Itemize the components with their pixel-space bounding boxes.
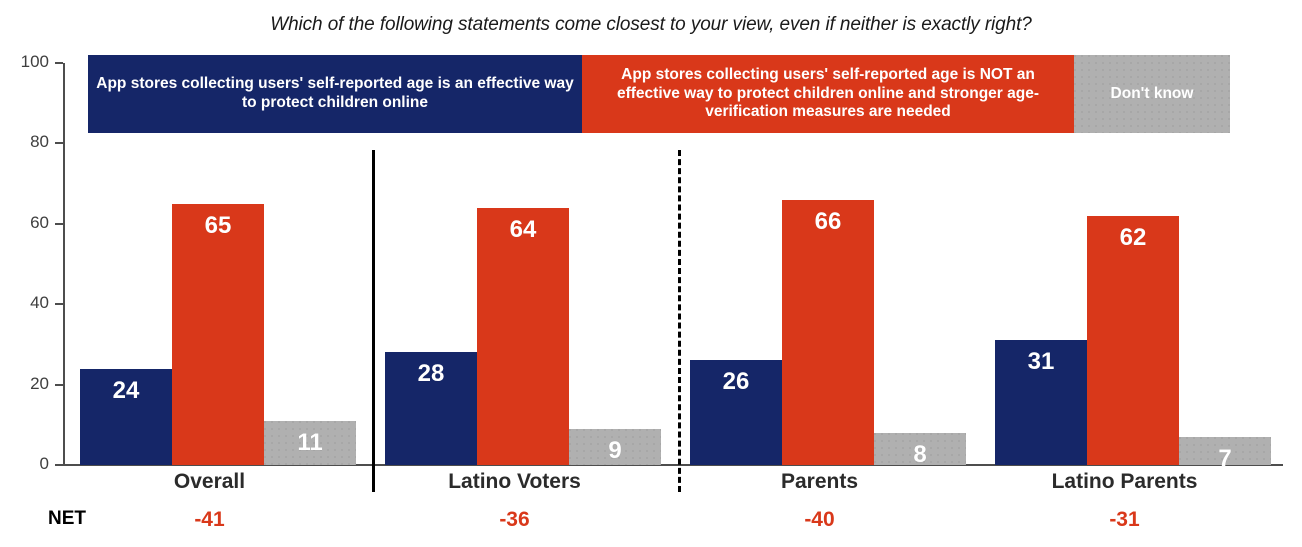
bar-not-effective: 62	[1087, 216, 1179, 465]
category-label-parents: Parents	[700, 470, 940, 494]
y-axis-tick-label: 100	[5, 52, 49, 72]
bar-value-label: 24	[80, 377, 172, 405]
bar-value-label: 31	[995, 348, 1087, 376]
category-label-latino-parents: Latino Parents	[1005, 470, 1245, 494]
category-label-overall: Overall	[90, 470, 330, 494]
y-axis-tick-label: 20	[5, 374, 49, 394]
y-axis-tick	[55, 464, 63, 466]
bar-effective: 26	[690, 360, 782, 465]
category-label-latino-voters: Latino Voters	[395, 470, 635, 494]
y-axis-tick	[55, 223, 63, 225]
bar-value-label: 26	[690, 368, 782, 396]
bar-not-effective: 64	[477, 208, 569, 465]
y-axis-tick	[55, 142, 63, 144]
bar-value-label: 7	[1179, 445, 1271, 473]
net-value: -40	[700, 508, 940, 532]
y-axis-tick	[55, 62, 63, 64]
bar-not-effective: 65	[172, 204, 264, 465]
y-axis-tick-label: 40	[5, 293, 49, 313]
bar-chart: Which of the following statements come c…	[0, 0, 1302, 547]
bar-value-label: 64	[477, 216, 569, 244]
bar-value-label: 11	[264, 429, 356, 457]
y-axis-tick	[55, 384, 63, 386]
bar-effective: 28	[385, 352, 477, 465]
plot-area: 246511286492666831627	[65, 63, 1283, 465]
bar-dont-know: 7	[1179, 437, 1271, 465]
bar-value-label: 8	[874, 441, 966, 469]
bar-dont-know: 9	[569, 429, 661, 465]
bar-dont-know: 8	[874, 433, 966, 465]
bar-effective: 31	[995, 340, 1087, 465]
bar-value-label: 62	[1087, 224, 1179, 252]
bar-value-label: 9	[569, 437, 661, 465]
y-axis-tick-label: 80	[5, 132, 49, 152]
bar-value-label: 66	[782, 208, 874, 236]
y-axis-tick-label: 0	[5, 454, 49, 474]
bar-value-label: 65	[172, 212, 264, 240]
chart-title: Which of the following statements come c…	[0, 14, 1302, 36]
net-value: -41	[90, 508, 330, 532]
net-value: -36	[395, 508, 635, 532]
bar-not-effective: 66	[782, 200, 874, 465]
y-axis-tick-label: 60	[5, 213, 49, 233]
bar-dont-know: 11	[264, 421, 356, 465]
net-row-label: NET	[48, 508, 86, 530]
bar-value-label: 28	[385, 360, 477, 388]
y-axis-tick	[55, 303, 63, 305]
bar-effective: 24	[80, 369, 172, 465]
net-value: -31	[1005, 508, 1245, 532]
